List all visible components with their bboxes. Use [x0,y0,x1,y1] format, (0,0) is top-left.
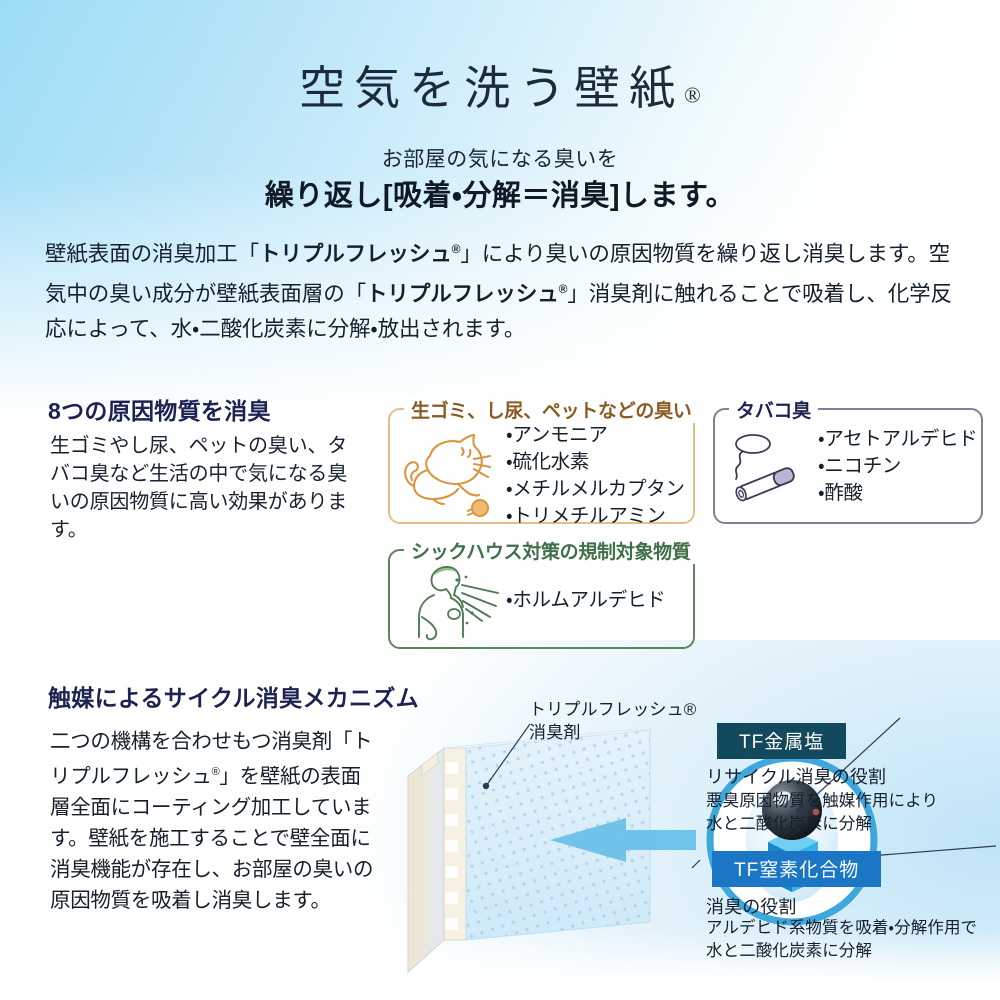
lead-paragraph: 壁紙表面の消臭加工「トリプルフレッシュ®」により臭いの原因物質を繰り返し消臭しま… [45,232,957,347]
tf-metal-salt-note-line1: 悪臭原因物質を触媒作用により [706,790,938,813]
list-item: ・ホルムアルデヒド [506,587,665,614]
section-1-body: 生ゴミやし尿、ペットの臭い、タバコ臭など生活の中で気になる臭いの原因物質に高い効… [50,432,360,544]
tf-metal-salt-note-line2: 水と二酸化炭素に分解 [706,813,938,836]
odor-box-sick-house: シックハウス対策の規制対象物質 ・ホルムア [388,549,695,649]
list-item: ・硫化水素 [506,449,685,476]
odor-box-sick-house-legend: シックハウス対策の規制対象物質 [404,537,698,564]
tf-nitrogen-note-line2: 水と二酸化炭素に分解 [706,940,977,963]
list-item: ・メチルメルカプタン [506,476,685,503]
cigarette-icon [723,428,813,508]
odor-box-kitchen-list: ・アンモニア ・硫化水素 ・メチルメルカプタン ・トリメチルアミン [506,422,685,530]
poster-root: 空気を洗う壁紙® お部屋の気になる臭いを 繰り返し[吸着・分解＝消臭]します。 … [0,0,1000,1000]
odor-box-tobacco-list: ・アセトアルデヒド ・ニコチン ・酢酸 [818,426,977,507]
odor-box-tobacco: タバコ臭 ・アセトアルデヒド ・ニコチン ・酢酸 [713,408,983,524]
cat-icon [400,426,508,518]
odor-box-kitchen: 生ゴミ、し尿、ペットなどの臭い ・アンモニア ・硫化水素 ・メチルメルカプタ [388,408,695,524]
tf-nitrogen-note: アルデヒド系物質を吸着・分解作用で 水と二酸化炭素に分解 [706,917,977,963]
registered-mark: ® [684,82,701,107]
section-2-heading: 触媒によるサイクル消臭メカニズム [48,679,419,713]
section-2-body: 二つの機構を合わせもつ消臭剤「トリプルフレッシュ®」を壁紙の表面層全面にコーティ… [50,726,380,916]
list-item: ・酢酸 [818,480,977,507]
list-item: ・アセトアルデヒド [818,426,977,453]
tf-nitrogen-role: 消臭の役割 [706,893,797,919]
tf-metal-salt-role: リサイクル消臭の役割 [706,763,886,789]
list-item: ・アンモニア [506,422,685,449]
tf-metal-salt-note: 悪臭原因物質を触媒作用により 水と二酸化炭素に分解 [706,790,938,836]
status-badge-tf-nitrogen-compound: TF窒素化合物 [712,851,881,887]
status-badge-tf-metal-salt: TF金属塩 [717,723,846,759]
diagram-product-callout-line1: トリプルフレッシュ® [529,698,697,721]
tf-nitrogen-note-line1: アルデヒド系物質を吸着・分解作用で [706,917,977,940]
section-1-heading: 8つの原因物質を消臭 [48,392,271,426]
odor-box-tobacco-legend: タバコ臭 [729,396,818,423]
list-item: ・ニコチン [818,453,977,480]
page-title: 空気を洗う壁紙® [0,52,1000,118]
subtitle-line-1: お部屋の気になる臭いを [0,143,1000,173]
odor-box-sick-house-list: ・ホルムアルデヒド [506,587,665,614]
diagram-product-callout: トリプルフレッシュ® 消臭剤 [529,698,697,744]
coughing-man-icon [410,561,506,645]
page-title-text: 空気を洗う壁紙 [299,63,684,114]
leader-dot [483,783,489,789]
subtitle-line-2: 繰り返し[吸着・分解＝消臭]します。 [0,172,1000,214]
odor-box-kitchen-legend: 生ゴミ、し尿、ペットなどの臭い [404,396,699,423]
list-item: ・トリメチルアミン [506,503,685,530]
diagram-product-callout-line2: 消臭剤 [529,721,697,744]
